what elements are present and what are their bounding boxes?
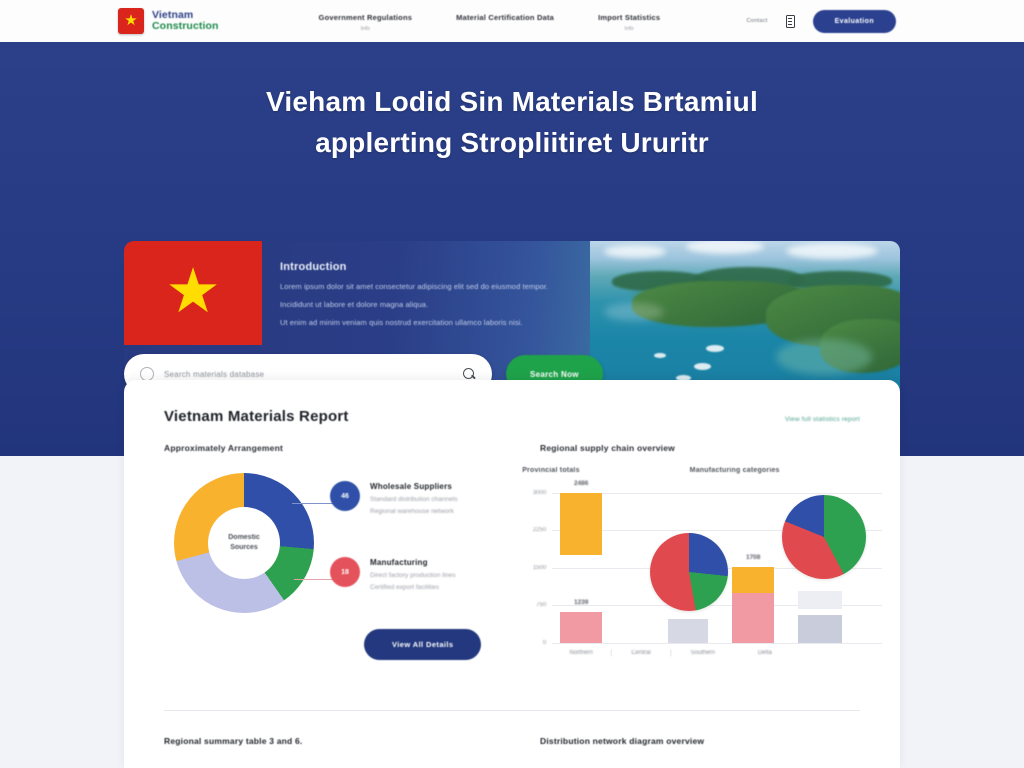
vietnam-flag-large-icon: ★ (124, 241, 262, 345)
search-icon[interactable] (463, 368, 476, 381)
document-icon[interactable] (786, 15, 795, 28)
callout-line: Standard distribution channels (370, 496, 457, 503)
pie-chart-b[interactable] (782, 495, 866, 579)
callout-badge: 46 (330, 481, 360, 511)
hero-blurb-title: Introduction (280, 261, 610, 273)
nav-item-import-statistics[interactable]: Import Statistics Info (598, 13, 660, 32)
card-title: Vietnam Materials Report (164, 408, 349, 425)
page-title: Vieham Lodid Sin Materials Brtamiul appl… (0, 44, 1024, 163)
donut-chart[interactable]: Domestic Sources (174, 473, 314, 613)
bar-value-label: 1708 (746, 554, 760, 561)
section-divider (164, 710, 860, 711)
donut-callout-manufacturing[interactable]: 18 Manufacturing Direct factory producti… (330, 557, 456, 591)
legend-item-categories: Manufacturing categories (690, 467, 780, 474)
bottom-right-head: Distribution network diagram overview (540, 736, 704, 746)
hero-blurb-line: Lorem ipsum dolor sit amet consectetur a… (280, 282, 610, 291)
y-axis: 3000 2250 1500 750 0 (518, 493, 550, 643)
avatar-icon (140, 367, 154, 381)
callout-title: Wholesale Suppliers (370, 482, 457, 491)
y-tick-label: 3000 (533, 490, 546, 496)
brand-logo[interactable]: ★ Vietnam Construction (118, 8, 219, 34)
card-header: Vietnam Materials Report View full stati… (124, 380, 900, 425)
donut-chart-panel: Domestic Sources 46 Wholesale Suppliers … (164, 467, 500, 695)
donut-center-line2: Sources (230, 543, 258, 553)
nav-item-government-regulations[interactable]: Government Regulations Info (319, 13, 413, 32)
bottom-left-block: Regional summary table 3 and 6. (164, 736, 540, 746)
coastal-aerial-photo (590, 241, 900, 401)
table-row[interactable] (668, 619, 708, 643)
callout-badge: 18 (330, 557, 360, 587)
vietnam-flag-icon: ★ (118, 8, 144, 34)
left-subhead: Approximately Arrangement (164, 443, 522, 453)
donut-center-label: Domestic Sources (208, 507, 280, 579)
star-icon: ★ (165, 261, 221, 323)
nav-label: Government Regulations (319, 13, 413, 22)
star-icon: ★ (124, 13, 137, 28)
x-tick-label: Delta (734, 650, 796, 656)
nav-sublabel: Info (319, 26, 413, 32)
callout-line: Direct factory production lines (370, 572, 456, 579)
header-contact-link[interactable]: Contact (747, 18, 768, 24)
right-subhead: Regional supply chain overview (540, 443, 675, 453)
nav-sublabel: Info (598, 26, 660, 32)
chart-legend: Provincial totals Manufacturing categori… (518, 467, 860, 474)
evaluation-button[interactable]: Evaluation (813, 10, 896, 33)
bottom-right-block: Distribution network diagram overview (540, 736, 704, 746)
bar-chart-panel: Provincial totals Manufacturing categori… (518, 467, 860, 695)
header-actions: Contact Evaluation (747, 10, 896, 33)
nav-label: Material Certification Data (456, 13, 554, 22)
callout-line: Certified export facilities (370, 584, 456, 591)
x-tick-label: Southern (672, 650, 734, 656)
callout-text: Manufacturing Direct factory production … (370, 557, 456, 591)
bottom-left-head: Regional summary table 3 and 6. (164, 736, 540, 746)
view-all-details-button[interactable]: View All Details (364, 629, 481, 660)
x-tick-label: Northern (552, 650, 610, 656)
view-report-link[interactable]: View full statistics report (785, 416, 860, 423)
hero-blurb-line: Ut enim ad minim veniam quis nostrud exe… (280, 318, 610, 327)
plot-area: 3000 2250 1500 750 0 2486 (518, 493, 882, 665)
table-row[interactable]: 1708 (732, 567, 774, 643)
table-row[interactable] (798, 591, 842, 609)
bar-value-label: 1239 (574, 599, 588, 606)
donut-callout-wholesale[interactable]: 46 Wholesale Suppliers Standard distribu… (330, 481, 457, 515)
subsection-headers: Approximately Arrangement Regional suppl… (124, 443, 900, 453)
callout-leader-line (294, 579, 334, 580)
y-tick-label: 1500 (533, 565, 546, 571)
report-card: Vietnam Materials Report View full stati… (124, 380, 900, 768)
bar-value-label: 2486 (574, 480, 588, 487)
charts-row: Domestic Sources 46 Wholesale Suppliers … (124, 467, 900, 695)
y-tick-label: 750 (536, 602, 546, 608)
search-placeholder: Search materials database (164, 370, 463, 379)
pie-chart-a[interactable] (650, 533, 728, 611)
callout-text: Wholesale Suppliers Standard distributio… (370, 481, 457, 515)
table-row[interactable]: 1239 (560, 612, 602, 643)
brand-line2: Construction (152, 21, 219, 32)
left-subsection: Approximately Arrangement (164, 443, 522, 453)
brand-text: Vietnam Construction (152, 10, 219, 33)
x-tick-label: Central (612, 650, 670, 656)
legend-item-provincial: Provincial totals (522, 467, 579, 474)
hero-title-line2: applerting Stropliitiret Ururitr (0, 123, 1024, 164)
main-navigation: Government Regulations Info Material Cer… (319, 13, 661, 32)
x-axis: Northern | Central | Southern Delta (552, 645, 882, 661)
right-subsection: Regional supply chain overview (540, 443, 675, 453)
callout-title: Manufacturing (370, 558, 456, 567)
bottom-section: Regional summary table 3 and 6. Distribu… (164, 736, 860, 746)
table-row[interactable] (798, 615, 842, 643)
nav-label: Import Statistics (598, 13, 660, 22)
donut-center-line1: Domestic (228, 533, 260, 543)
callout-line: Regional warehouse network (370, 508, 457, 515)
y-tick-label: 0 (543, 640, 546, 646)
top-header-bar: ★ Vietnam Construction Government Regula… (0, 0, 1024, 44)
hero-title-line1: Vieham Lodid Sin Materials Brtamiul (0, 82, 1024, 123)
hero-blurb-line: Incididunt ut labore et dolore magna ali… (280, 300, 610, 309)
y-tick-label: 2250 (533, 527, 546, 533)
hero-blurb: Introduction Lorem ipsum dolor sit amet … (280, 261, 610, 327)
table-row[interactable]: 2486 (560, 493, 602, 555)
nav-item-material-certification[interactable]: Material Certification Data (456, 13, 554, 26)
